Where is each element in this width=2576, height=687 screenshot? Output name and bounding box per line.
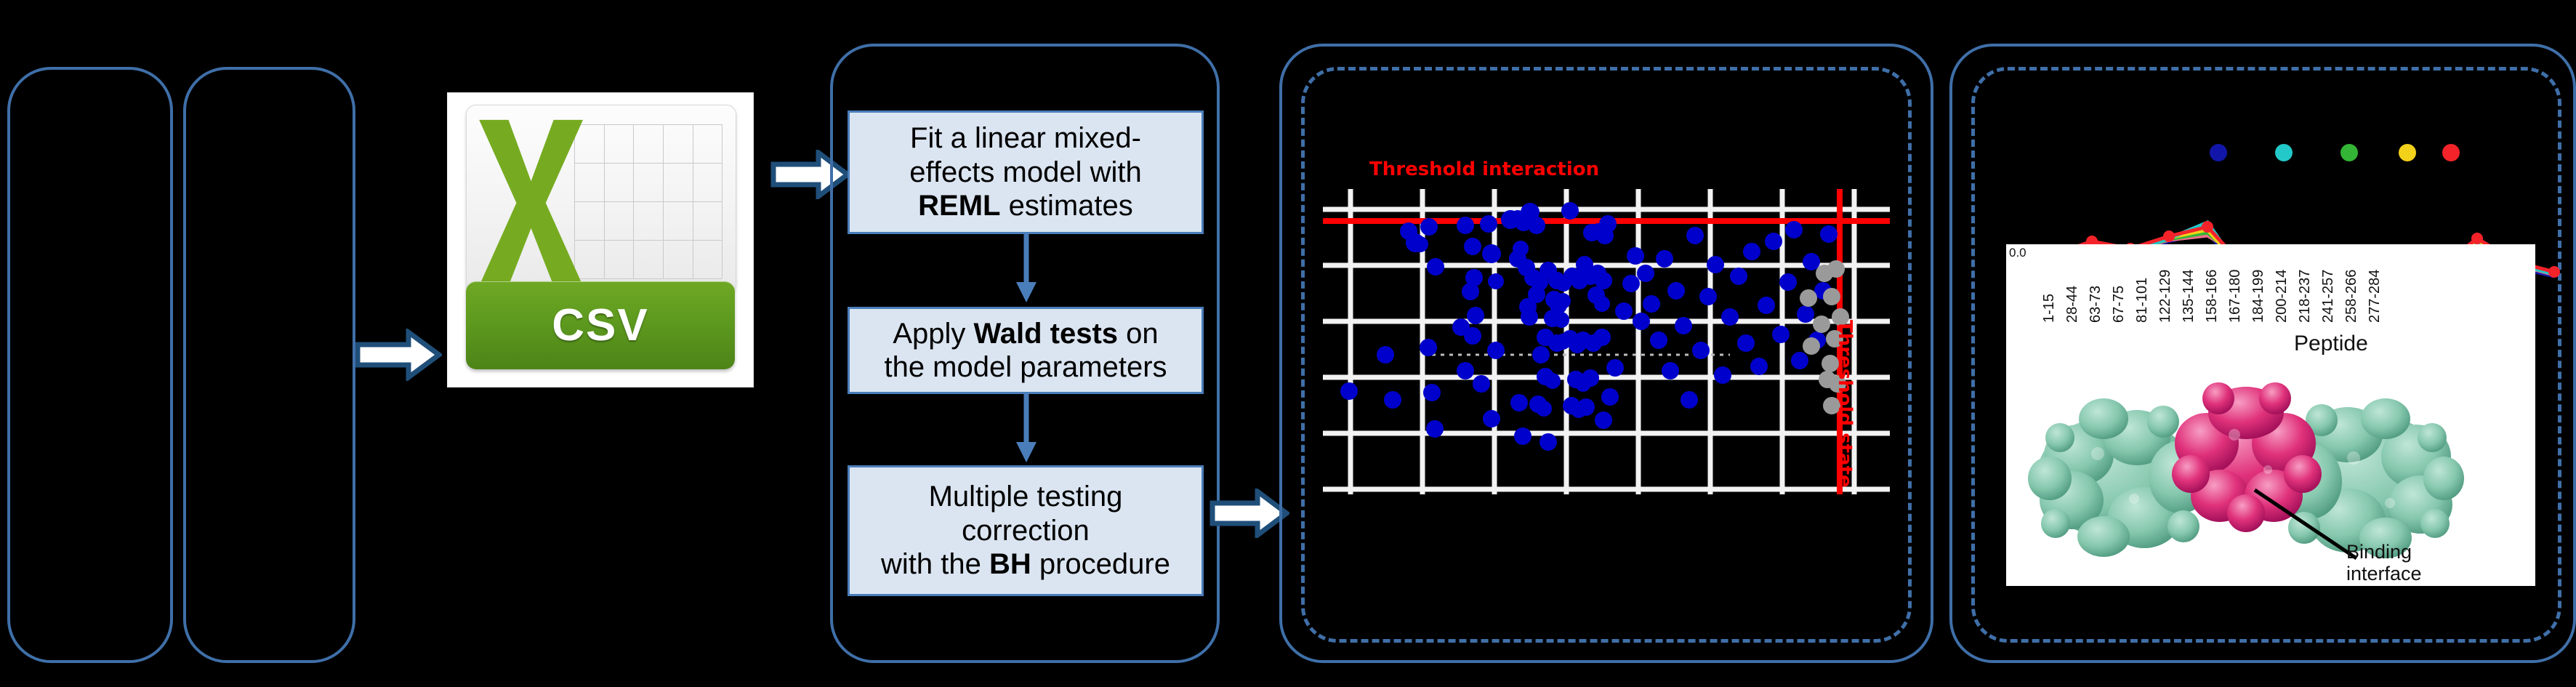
volcano-scatter-plot <box>1323 189 1890 494</box>
x-axis-label: Peptide <box>2294 332 2368 356</box>
box-model-bold: REML <box>918 190 1000 222</box>
peptide-tick-81-101: 81-101 <box>2134 278 2151 323</box>
vertical-connector-2 <box>1015 394 1038 464</box>
peptide-tick-241-257: 241-257 <box>2320 270 2337 323</box>
box-bh-bold: BH <box>989 548 1031 580</box>
box-model-line1: Fit a linear mixed- <box>910 122 1141 154</box>
panel-csv <box>183 67 355 663</box>
peptide-tick-135-144: 135-144 <box>2181 270 2197 323</box>
box-wald-suffix: on <box>1118 318 1159 350</box>
box-wald-prefix: Apply <box>893 318 973 350</box>
box-bh-line3-prefix: with the <box>881 548 989 580</box>
peptide-tick-63-73: 63-73 <box>2088 286 2104 323</box>
csv-grid <box>574 124 722 278</box>
box-bh-line1: Multiple testing <box>929 481 1123 513</box>
y-axis-tick-label: 0.0 <box>2009 246 2026 260</box>
peptide-tick-28-44: 28-44 <box>2064 286 2081 323</box>
peptide-tick-122-129: 122-129 <box>2157 270 2174 323</box>
process-box-wald: Apply Wald tests on the model parameters <box>848 307 1204 394</box>
flow-arrow-3 <box>1209 489 1289 538</box>
vertical-connector-1 <box>1015 234 1038 304</box>
peptide-tick-167-180: 167-180 <box>2227 270 2244 323</box>
peptide-tick-184-199: 184-199 <box>2250 270 2267 323</box>
peptide-tick-1-15: 1-15 <box>2041 294 2058 323</box>
panel-input <box>7 67 173 663</box>
threshold-interaction-label: Threshold interaction <box>1369 158 1599 180</box>
csv-banner-text: CSV <box>552 300 648 351</box>
box-model-line3-suffix: estimates <box>1001 190 1133 222</box>
peptide-tick-258-266: 258-266 <box>2343 270 2360 323</box>
binding-interface-annotation: Binding interface <box>2346 541 2422 584</box>
marker-cyan <box>2275 144 2293 161</box>
marker-green <box>2340 144 2358 161</box>
binding-interface-line2: interface <box>2346 563 2422 584</box>
csv-banner: CSV <box>466 281 735 369</box>
box-bh-line3-suffix: procedure <box>1031 548 1170 580</box>
peptide-tick-200-214: 200-214 <box>2274 270 2290 323</box>
box-wald-bold: Wald tests <box>974 318 1119 350</box>
marker-blue <box>2210 144 2227 161</box>
figure-root: CSV Fit a linear mixed- effects model wi… <box>0 0 2576 687</box>
csv-file-icon: CSV <box>448 93 753 387</box>
marker-yellow <box>2399 144 2416 161</box>
peptide-tick-218-237: 218-237 <box>2297 270 2314 323</box>
box-bh-line2: correction <box>962 515 1090 547</box>
marker-red <box>2442 144 2460 161</box>
threshold-state-label: Threshold state <box>1834 320 1856 488</box>
peptide-tick-67-75: 67-75 <box>2111 286 2128 323</box>
binding-interface-line1: Binding <box>2346 541 2422 563</box>
box-model-line2: effects model with <box>909 156 1141 188</box>
structure-figure: 0.0 1-15 28-44 63-73 67-75 81-101 122-12… <box>2006 244 2535 586</box>
csv-sheet-body <box>466 105 736 294</box>
box-wald-line2: the model parameters <box>884 351 1167 383</box>
peptide-tick-158-166: 158-166 <box>2204 270 2221 323</box>
peptide-tick-277-284: 277-284 <box>2367 270 2383 323</box>
excel-x-letter-icon <box>475 109 587 289</box>
flow-arrow-1 <box>355 329 442 381</box>
process-box-model: Fit a linear mixed- effects model with R… <box>848 111 1204 234</box>
process-box-bh: Multiple testing correction with the BH … <box>848 465 1204 596</box>
